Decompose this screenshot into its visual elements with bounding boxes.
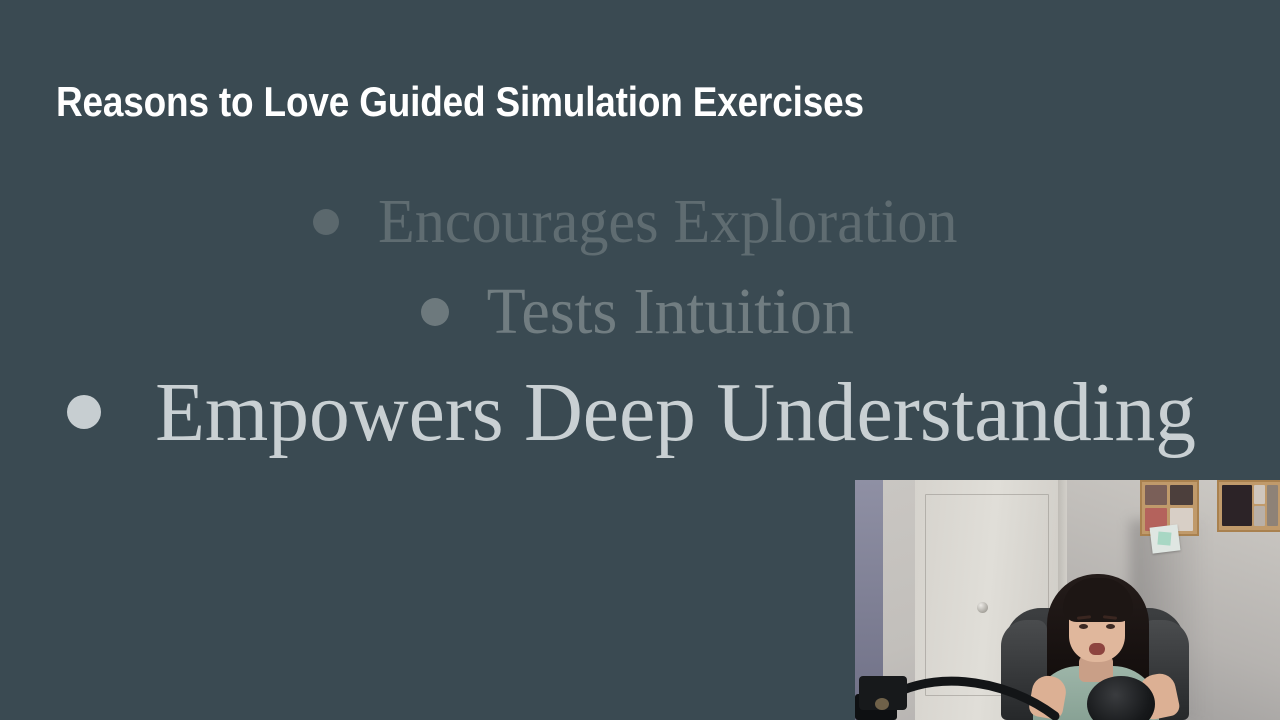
sticky-note bbox=[1150, 524, 1181, 553]
bullet-point-icon bbox=[313, 209, 339, 235]
presentation-slide: Reasons to Love Guided Simulation Exerci… bbox=[0, 0, 1280, 720]
wall-photo bbox=[1222, 485, 1252, 526]
wall-photo bbox=[1145, 485, 1167, 505]
presenter-hair-top bbox=[1063, 578, 1133, 622]
bullet-label: Encourages Exploration bbox=[378, 187, 957, 258]
bullet-label-highlighted: Empowers Deep Understanding bbox=[156, 364, 1197, 461]
door-knob-icon bbox=[977, 602, 988, 613]
presenter-mouth bbox=[1089, 643, 1105, 655]
wall-photo bbox=[1170, 485, 1193, 505]
bullet-list: Encourages Exploration Tests Intuition E… bbox=[0, 178, 1280, 466]
corkboard bbox=[1217, 480, 1280, 532]
bullet-point-icon bbox=[421, 298, 449, 326]
wall-photo bbox=[1254, 485, 1265, 504]
presenter-eye-right bbox=[1106, 624, 1115, 629]
page-title: Reasons to Love Guided Simulation Exerci… bbox=[56, 78, 864, 126]
wall-photo bbox=[1254, 506, 1265, 526]
presenter-eye-left bbox=[1079, 624, 1088, 629]
list-item: Empowers Deep Understanding bbox=[0, 358, 1280, 466]
list-item: Encourages Exploration bbox=[0, 178, 1280, 266]
webcam-overlay bbox=[855, 480, 1280, 720]
wall-photo bbox=[1267, 485, 1278, 526]
webcam-scene bbox=[855, 480, 1280, 720]
list-item: Tests Intuition bbox=[0, 266, 1280, 358]
microphone-clamp bbox=[859, 676, 907, 710]
bullet-point-icon bbox=[67, 395, 101, 429]
bullet-label: Tests Intuition bbox=[486, 274, 853, 350]
